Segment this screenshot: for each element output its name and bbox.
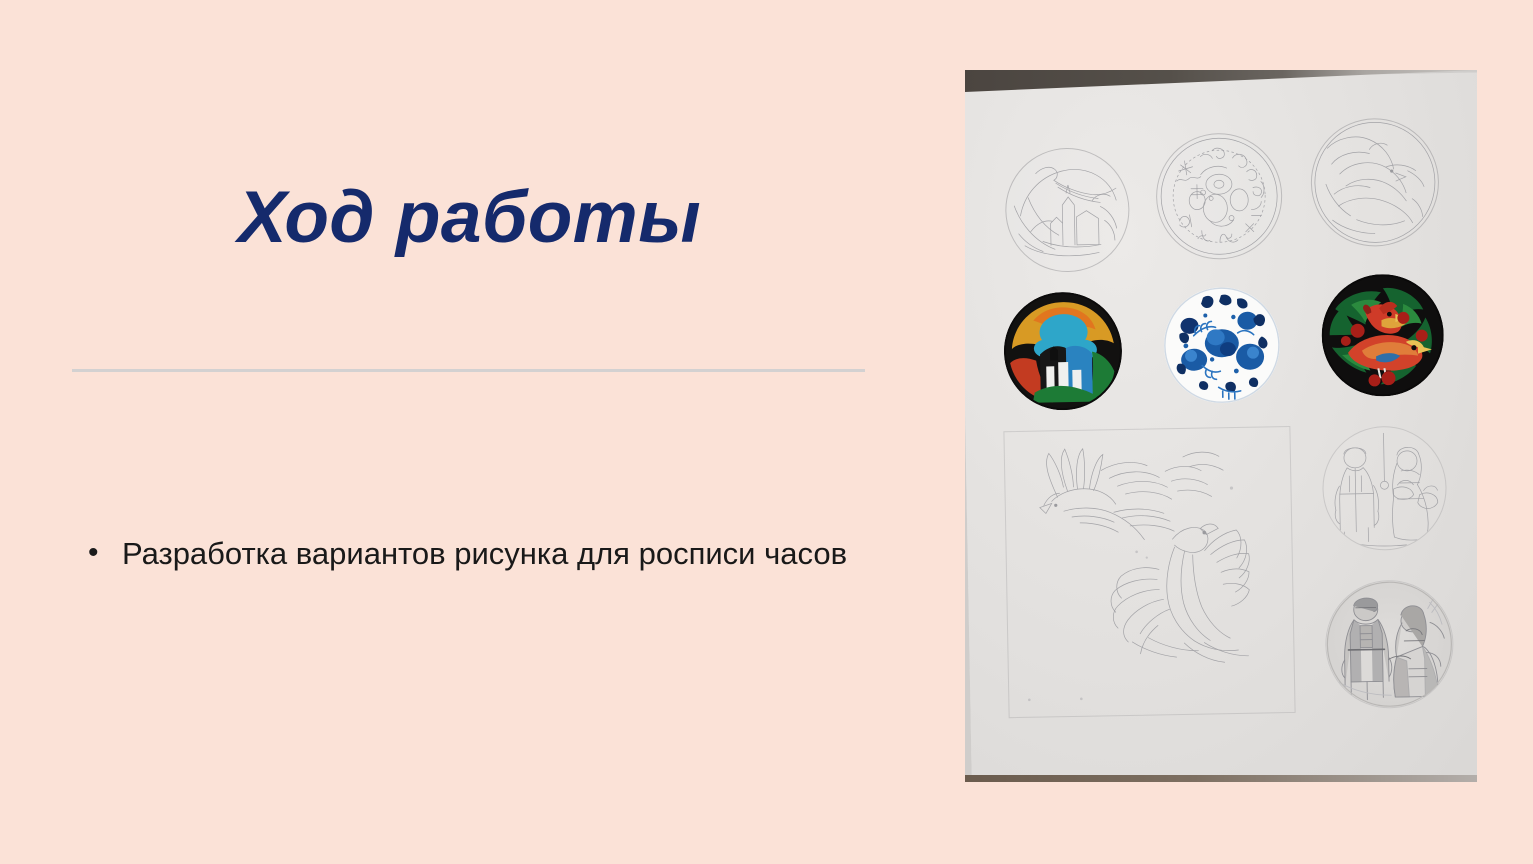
bullet-marker-icon: • <box>84 533 111 573</box>
body-text-block: • Разработка вариантов рисунка для роспи… <box>84 533 874 574</box>
slide-canvas: Ход работы • Разработка вариантов рисунк… <box>0 0 1533 864</box>
sketch-firebird-panel <box>1003 426 1295 718</box>
desk-bottom-edge <box>965 775 1477 782</box>
list-item: • Разработка вариантов рисунка для роспи… <box>84 533 874 574</box>
horizontal-divider <box>72 369 865 372</box>
paper-sheet <box>965 72 1477 782</box>
page-title: Ход работы <box>72 180 867 257</box>
bullet-text: Разработка вариантов рисунка для росписи… <box>111 533 874 574</box>
photo-of-design-sketches <box>965 70 1477 782</box>
title-block: Ход работы <box>72 180 867 257</box>
